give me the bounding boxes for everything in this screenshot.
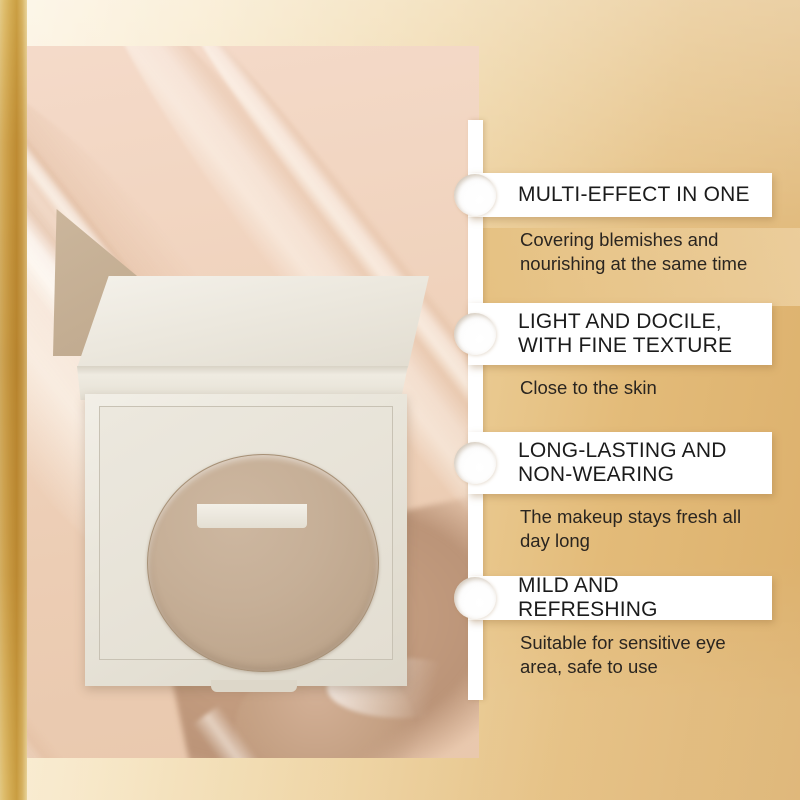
compact-latch-icon	[197, 504, 307, 528]
feature-title: MILD AND REFRESHING	[518, 574, 758, 621]
product-photo	[27, 46, 479, 758]
feature-title: LIGHT AND DOCILE, WITH FINE TEXTURE	[518, 310, 732, 357]
feature-subtitle: Suitable for sensitive eye area, safe to…	[520, 631, 772, 679]
compact-case	[57, 276, 457, 696]
feature-title-bar[interactable]: LONG-LASTING AND NON-WEARING	[468, 432, 772, 494]
bullet-circle-icon	[454, 442, 496, 484]
feature-subtitle: The makeup stays fresh all day long	[520, 505, 772, 553]
gold-left-border	[0, 0, 27, 800]
feature-item-mild-and-refreshing[interactable]: MILD AND REFRESHING Suitable for sensiti…	[468, 576, 772, 679]
feature-title-bar[interactable]: MULTI-EFFECT IN ONE	[468, 173, 772, 217]
feature-title: LONG-LASTING AND NON-WEARING	[518, 439, 727, 486]
feature-title-bar[interactable]: MILD AND REFRESHING	[468, 576, 772, 620]
feature-item-long-lasting-and-non-wearing[interactable]: LONG-LASTING AND NON-WEARING The makeup …	[468, 432, 772, 553]
compact-notch-icon	[211, 680, 297, 692]
bullet-circle-icon	[454, 174, 496, 216]
compact-lid-icon	[77, 276, 429, 368]
feature-subtitle: Close to the skin	[520, 376, 772, 400]
feature-title: MULTI-EFFECT IN ONE	[518, 183, 750, 207]
infographic-root: MULTI-EFFECT IN ONE Covering blemishes a…	[0, 0, 800, 800]
feature-item-light-and-docile[interactable]: LIGHT AND DOCILE, WITH FINE TEXTURE Clos…	[468, 303, 772, 400]
compact-base-icon	[85, 394, 407, 686]
bullet-circle-icon	[454, 313, 496, 355]
feature-subtitle: Covering blemishes and nourishing at the…	[520, 228, 772, 276]
feature-item-multi-effect-in-one[interactable]: MULTI-EFFECT IN ONE Covering blemishes a…	[468, 173, 772, 276]
feature-title-bar[interactable]: LIGHT AND DOCILE, WITH FINE TEXTURE	[468, 303, 772, 365]
bullet-circle-icon	[454, 577, 496, 619]
cream-pan-icon	[147, 454, 379, 672]
